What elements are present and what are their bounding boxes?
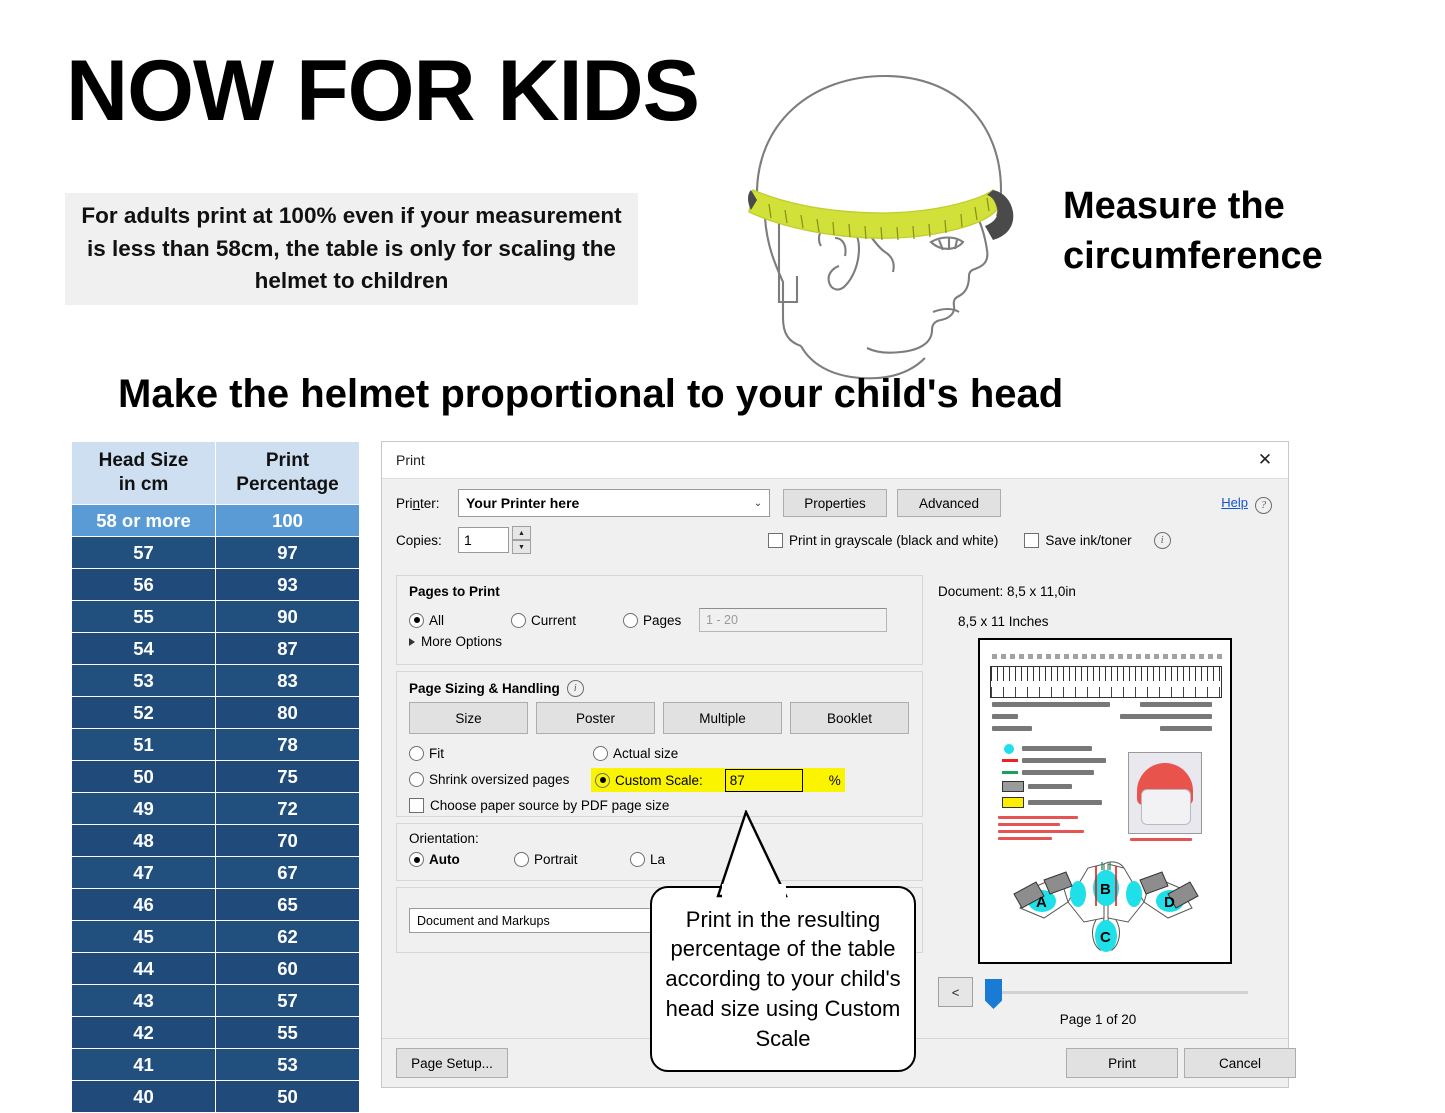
table-row: 5280 (72, 697, 360, 729)
cell-head-size: 53 (72, 665, 216, 697)
orientation-options: Auto Portrait La (409, 852, 665, 867)
radio-landscape-label: La (650, 852, 665, 867)
booklet-button[interactable]: Booklet (790, 702, 909, 734)
legend-swatch-gray (1002, 781, 1024, 792)
cell-print-percentage: 100 (216, 505, 360, 537)
legend-text-3 (1022, 770, 1094, 775)
page-sizing-info-icon[interactable]: i (567, 680, 584, 697)
radio-actual-size[interactable] (593, 746, 608, 761)
head-profile-icon (735, 50, 1035, 380)
save-ink-checkbox-row[interactable]: Save ink/toner (1024, 533, 1131, 548)
page-sizing-buttons: Size Poster Multiple Booklet (409, 702, 909, 734)
advanced-button[interactable]: Advanced (897, 489, 1001, 517)
callout-text: Print in the resulting percentage of the… (652, 905, 914, 1053)
radio-fit[interactable] (409, 746, 424, 761)
copies-stepper[interactable]: ▲ ▼ (512, 526, 531, 554)
adults-note-text: For adults print at 100% even if your me… (65, 200, 638, 298)
shrink-radio-row[interactable]: Shrink oversized pages (409, 772, 569, 787)
legend-text-4 (1028, 784, 1072, 789)
properties-button[interactable]: Properties (783, 489, 887, 517)
radio-custom-scale-label: Custom Scale: (615, 773, 703, 788)
cell-head-size: 58 or more (72, 505, 216, 537)
cell-head-size: 48 (72, 825, 216, 857)
column-header-print-percentage: Print Percentage (216, 442, 360, 505)
pages-to-print-panel: Pages to Print All Current Pages 1 - 20 … (396, 575, 923, 665)
cell-print-percentage: 83 (216, 665, 360, 697)
table-head: Head Size in cm Print Percentage (72, 442, 360, 505)
cell-print-percentage: 87 (216, 633, 360, 665)
table-row: 4255 (72, 1017, 360, 1049)
cell-head-size: 51 (72, 729, 216, 761)
legend-swatch-green (1002, 771, 1018, 774)
cell-head-size: 52 (72, 697, 216, 729)
more-options-label: More Options (421, 634, 502, 649)
piece-label-a: A (1036, 894, 1047, 911)
cell-head-size: 49 (72, 793, 216, 825)
legend-swatch-red (1002, 759, 1018, 762)
page-sizing-panel: Page Sizing & Handling i Size Poster Mul… (396, 671, 923, 817)
cell-print-percentage: 62 (216, 921, 360, 953)
piece-label-b: B (1100, 881, 1111, 898)
size-button[interactable]: Size (409, 702, 528, 734)
chevron-down-icon: ⌄ (747, 490, 769, 516)
printer-row: Printer: Your Printer here ⌄ Properties … (396, 489, 1274, 517)
radio-auto-label: Auto (429, 852, 514, 867)
table-row: 58 or more100 (72, 505, 360, 537)
page-slider-thumb[interactable] (985, 979, 1002, 1009)
table-row: 4562 (72, 921, 360, 953)
pages-to-print-title: Pages to Print (409, 584, 500, 599)
cell-head-size: 42 (72, 1017, 216, 1049)
preview-note-1 (998, 816, 1078, 819)
cell-head-size: 50 (72, 761, 216, 793)
cell-head-size: 55 (72, 601, 216, 633)
cell-print-percentage: 80 (216, 697, 360, 729)
table-row: 4357 (72, 985, 360, 1017)
page-sizing-title-row: Page Sizing & Handling i (409, 680, 584, 697)
percent-sign: % (829, 773, 841, 788)
radio-fit-label: Fit (429, 746, 444, 761)
cell-head-size: 40 (72, 1081, 216, 1113)
printer-select[interactable]: Your Printer here ⌄ (458, 489, 770, 517)
radio-pages-label: Pages (643, 613, 699, 628)
radio-custom-scale[interactable] (595, 773, 610, 788)
chevron-right-icon (409, 638, 415, 646)
copies-input[interactable]: 1 (458, 527, 509, 553)
radio-shrink-oversized-label: Shrink oversized pages (429, 772, 569, 787)
custom-scale-input[interactable]: 87 (725, 769, 803, 792)
page-setup-button[interactable]: Page Setup... (396, 1048, 508, 1078)
grayscale-checkbox-row[interactable]: Print in grayscale (black and white) (768, 533, 998, 548)
measuring-tape-icon (748, 190, 1013, 240)
preview-document-label: Document: 8,5 x 11,0in (938, 584, 1076, 599)
preview-line3-left (992, 726, 1032, 731)
cell-print-percentage: 97 (216, 537, 360, 569)
preview-note-2 (998, 823, 1060, 826)
multiple-button[interactable]: Multiple (663, 702, 782, 734)
table-row: 4767 (72, 857, 360, 889)
dialog-title: Print (396, 452, 1252, 468)
cell-head-size: 43 (72, 985, 216, 1017)
preview-arrow-note (1130, 838, 1192, 841)
head-size-scale-table: Head Size in cm Print Percentage 58 or m… (71, 441, 360, 1113)
legend-swatch-cyan (1004, 744, 1014, 754)
orientation-panel: Orientation: Auto Portrait La (396, 823, 923, 881)
cell-print-percentage: 65 (216, 889, 360, 921)
dialog-titlebar: Print ✕ (382, 442, 1288, 479)
preview-ruler-icon (990, 666, 1222, 698)
preview-line2-left (992, 714, 1018, 719)
preview-thumbnail[interactable]: A B C D (978, 638, 1232, 964)
poster-root: NOW FOR KIDS For adults print at 100% ev… (0, 0, 1445, 1110)
table-row: 4050 (72, 1081, 360, 1113)
paper-source-checkbox[interactable] (409, 798, 424, 813)
radio-shrink-oversized[interactable] (409, 772, 424, 787)
cell-print-percentage: 53 (216, 1049, 360, 1081)
preview-size-label: 8,5 x 11 Inches (958, 614, 1049, 629)
legend-text-5 (1028, 800, 1102, 805)
cell-print-percentage: 55 (216, 1017, 360, 1049)
pages-range-input[interactable]: 1 - 20 (699, 608, 887, 632)
grayscale-checkbox[interactable] (768, 533, 783, 548)
cell-print-percentage: 60 (216, 953, 360, 985)
legend-swatch-yellow (1002, 797, 1024, 808)
help-icon[interactable]: ? (1255, 495, 1272, 514)
radio-pages[interactable] (623, 613, 638, 628)
page-slider-row: < (938, 977, 1258, 1007)
page-slider-track[interactable] (987, 991, 1248, 994)
table-row: 5693 (72, 569, 360, 601)
table-row: 4665 (72, 889, 360, 921)
subheadline: Make the helmet proportional to your chi… (118, 372, 1063, 417)
more-options-toggle[interactable]: More Options (409, 634, 502, 649)
printer-value: Your Printer here (459, 495, 579, 511)
cell-head-size: 54 (72, 633, 216, 665)
save-ink-checkbox[interactable] (1024, 533, 1039, 548)
radio-current-label: Current (531, 613, 623, 628)
preview-line3-right (1160, 726, 1212, 731)
piece-label-d: D (1164, 894, 1175, 911)
cell-print-percentage: 70 (216, 825, 360, 857)
cell-print-percentage: 90 (216, 601, 360, 633)
preview-helmet-image (1128, 752, 1202, 834)
cell-head-size: 56 (72, 569, 216, 601)
radio-current[interactable] (511, 613, 526, 628)
legend-text-2 (1022, 758, 1106, 763)
table-row: 5590 (72, 601, 360, 633)
dialog-top-section: Help ? Printer: Your Printer here ⌄ Prop… (382, 479, 1288, 560)
grayscale-label: Print in grayscale (black and white) (789, 533, 998, 548)
preview-title-right (1140, 702, 1212, 707)
stepper-down-icon[interactable]: ▼ (512, 540, 531, 554)
orientation-title: Orientation: (409, 831, 479, 846)
cell-print-percentage: 72 (216, 793, 360, 825)
cell-head-size: 46 (72, 889, 216, 921)
radio-portrait-label: Portrait (534, 852, 630, 867)
cell-print-percentage: 67 (216, 857, 360, 889)
preview-note-3 (998, 830, 1084, 833)
poster-button[interactable]: Poster (536, 702, 655, 734)
preview-title-left (992, 702, 1110, 707)
cell-head-size: 57 (72, 537, 216, 569)
callout-tail (700, 810, 790, 900)
actual-size-radio-row[interactable]: Actual size (593, 746, 678, 761)
print-button[interactable]: Print (1066, 1048, 1178, 1078)
table-row: 4870 (72, 825, 360, 857)
paper-source-label: Choose paper source by PDF page size (430, 798, 669, 813)
comments-forms-select[interactable]: Document and Markups (409, 908, 668, 933)
column-header-head-size: Head Size in cm (72, 442, 216, 505)
page-sizing-title: Page Sizing & Handling (409, 681, 560, 696)
copies-label: Copies: (396, 533, 458, 548)
callout-bubble: Print in the resulting percentage of the… (650, 886, 916, 1072)
measure-circumference-label: Measure the circumference (1063, 181, 1393, 281)
preview-pattern-pieces: A B C D (992, 846, 1220, 958)
preview-page-content: A B C D (980, 640, 1230, 962)
table-row: 5797 (72, 537, 360, 569)
cell-head-size: 47 (72, 857, 216, 889)
copies-row: Copies: 1 ▲ ▼ Print in grayscale (black … (396, 526, 1274, 554)
radio-portrait[interactable] (514, 852, 529, 867)
printer-label: Printer: (396, 496, 458, 511)
stepper-up-icon[interactable]: ▲ (512, 526, 531, 540)
legend-text-1 (1022, 746, 1092, 751)
save-ink-info-icon[interactable]: i (1154, 532, 1171, 549)
radio-auto[interactable] (409, 852, 424, 867)
table-row: 5075 (72, 761, 360, 793)
table-row: 5487 (72, 633, 360, 665)
save-ink-label: Save ink/toner (1045, 533, 1131, 548)
cell-head-size: 45 (72, 921, 216, 953)
cell-print-percentage: 75 (216, 761, 360, 793)
cell-head-size: 41 (72, 1049, 216, 1081)
cancel-button[interactable]: Cancel (1184, 1048, 1296, 1078)
cell-print-percentage: 93 (216, 569, 360, 601)
radio-all[interactable] (409, 613, 424, 628)
cell-print-percentage: 57 (216, 985, 360, 1017)
helmet-white-face (1141, 789, 1191, 825)
adults-note-box: For adults print at 100% even if your me… (65, 193, 638, 305)
preview-line2-right (1120, 714, 1212, 719)
fit-radio-row[interactable]: Fit (409, 746, 444, 761)
preview-note-4 (998, 837, 1052, 840)
table-row: 4460 (72, 953, 360, 985)
table-row: 5178 (72, 729, 360, 761)
radio-all-label: All (429, 613, 511, 628)
radio-landscape[interactable] (630, 852, 645, 867)
head-measurement-illustration (735, 50, 1035, 380)
table-body: 58 or more100579756935590548753835280517… (72, 505, 360, 1113)
preview-ruler-note-text (992, 654, 1222, 659)
page-indicator: Page 1 of 20 (938, 1012, 1258, 1027)
cell-print-percentage: 50 (216, 1081, 360, 1113)
previous-page-button[interactable]: < (938, 977, 973, 1007)
table-row: 5383 (72, 665, 360, 697)
page-title: NOW FOR KIDS (66, 48, 699, 134)
pages-to-print-options: All Current Pages 1 - 20 (409, 608, 887, 632)
cell-head-size: 44 (72, 953, 216, 985)
help-link[interactable]: Help (1221, 495, 1248, 510)
paper-source-checkbox-row[interactable]: Choose paper source by PDF page size (409, 798, 669, 813)
table-row: 4153 (72, 1049, 360, 1081)
custom-scale-row[interactable]: Custom Scale: 87 % (591, 768, 845, 792)
table-header-row: Head Size in cm Print Percentage (72, 442, 360, 505)
cell-print-percentage: 78 (216, 729, 360, 761)
table-row: 4972 (72, 793, 360, 825)
radio-actual-size-label: Actual size (613, 746, 678, 761)
piece-label-c: C (1100, 929, 1111, 946)
close-icon[interactable]: ✕ (1252, 447, 1278, 473)
